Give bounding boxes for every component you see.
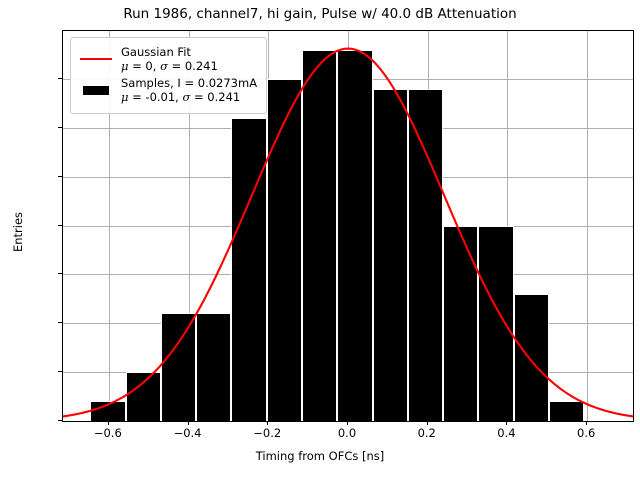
x-tick-mark [506, 421, 507, 425]
legend-item-gaussian-fit: Gaussian Fit μ = 0, σ = 0.241 [79, 45, 257, 73]
legend-gaussian-title: Gaussian Fit [121, 45, 218, 59]
y-axis-label: Entries [11, 142, 25, 322]
x-tick-label: 0.4 [497, 426, 515, 440]
y-tick-mark [58, 420, 62, 421]
legend-patch-icon [79, 83, 113, 97]
legend-samples-params: μ = -0.01, σ = 0.241 [121, 90, 257, 104]
y-tick-mark [58, 78, 62, 79]
y-tick-mark [58, 225, 62, 226]
x-tick-mark [267, 421, 268, 425]
chart-title: Run 1986, channel7, hi gain, Pulse w/ 40… [0, 6, 640, 22]
x-tick-label: −0.6 [94, 426, 122, 440]
chart-legend: Gaussian Fit μ = 0, σ = 0.241 Samples, I… [70, 37, 267, 114]
y-tick-mark [58, 127, 62, 128]
gridline-horizontal [63, 421, 633, 422]
x-tick-label: −0.2 [253, 426, 281, 440]
x-tick-mark [108, 421, 109, 425]
legend-text-samples: Samples, I = 0.0273mA μ = -0.01, σ = 0.2… [121, 76, 257, 104]
x-axis-label: Timing from OFCs [ns] [0, 449, 640, 463]
x-tick-mark [188, 421, 189, 425]
legend-text-gaussian: Gaussian Fit μ = 0, σ = 0.241 [121, 45, 218, 73]
legend-item-samples: Samples, I = 0.0273mA μ = -0.01, σ = 0.2… [79, 76, 257, 104]
y-tick-mark [58, 176, 62, 177]
legend-line-icon [79, 52, 113, 66]
legend-samples-title: Samples, I = 0.0273mA [121, 76, 257, 90]
x-tick-label: −0.4 [174, 426, 202, 440]
y-tick-mark [58, 322, 62, 323]
y-tick-mark [58, 273, 62, 274]
x-tick-label: 0.0 [338, 426, 356, 440]
x-tick-mark [427, 421, 428, 425]
legend-gaussian-params: μ = 0, σ = 0.241 [121, 59, 218, 73]
x-tick-label: 0.6 [577, 426, 595, 440]
x-tick-mark [586, 421, 587, 425]
x-tick-mark [347, 421, 348, 425]
x-tick-label: 0.2 [418, 426, 436, 440]
y-tick-mark [58, 371, 62, 372]
chart-figure: Run 1986, channel7, hi gain, Pulse w/ 40… [0, 0, 640, 480]
